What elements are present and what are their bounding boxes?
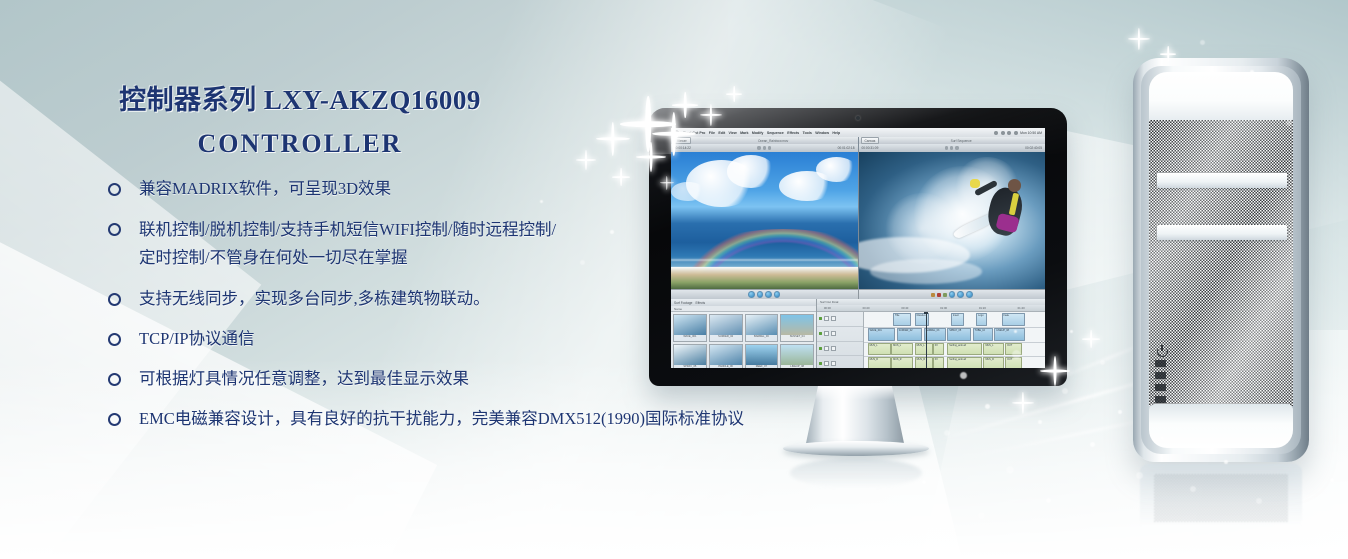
track-lock-icon[interactable]	[824, 346, 829, 351]
menu-item-view[interactable]: View	[729, 131, 737, 135]
feature-text: 支持无线同步，实现多台同步,多栋建筑物联动。	[139, 286, 490, 312]
timeline-clip[interactable]: Surfing_amb.aif	[947, 343, 982, 356]
clip-label: Fade	[1004, 314, 1009, 317]
timeline-clip[interactable]: MUS_R	[891, 357, 913, 368]
timeline-clip[interactable]: MUS_L	[868, 343, 892, 356]
ruler-mark: 00:00	[824, 306, 831, 310]
title-line-1: 控制器系列 LXY-AKZQ16009	[0, 78, 600, 117]
viewer-timecode[interactable]: 00:00:31:09	[862, 146, 879, 150]
track-header-a2[interactable]	[817, 356, 863, 368]
monitor-stand-base	[783, 441, 929, 456]
browser-panel[interactable]: Surf Footage Effects Name WAVE_001 SURFE…	[671, 299, 817, 368]
viewer-clip-title: Surf Sequence	[951, 139, 972, 143]
menu-bar: Final Cut Pro File Edit View Mark Modify…	[671, 128, 1045, 137]
menu-bar-status: Mon 10:50 AM	[994, 131, 1042, 135]
viewer-titlebar: Viewer Ocean_Rainbow.mov	[671, 137, 858, 144]
clip-name: BARREL_03	[746, 335, 778, 342]
timeline-clip[interactable]: MUS_L	[983, 343, 1003, 356]
firewire-icon[interactable]	[1155, 396, 1166, 403]
timeline-ruler[interactable]: 00:00 00:20 00:40 01:00 01:20 01:40	[817, 305, 1045, 312]
power-icon[interactable]	[1155, 346, 1171, 355]
list-item[interactable]: SUNSET_04	[780, 314, 814, 342]
feature-text: EMC电磁兼容设计，具有良好的抗干扰能力，完美兼容DMX512(1990)国际标…	[139, 406, 744, 432]
timeline-panel[interactable]: Surf Cut Final 00:00 00:20 00:40 01:00 0…	[817, 299, 1045, 368]
battery-icon[interactable]	[1014, 131, 1018, 135]
track-visibility-icon[interactable]	[819, 332, 822, 335]
viewer-duration: 00:01:02:18	[838, 146, 855, 150]
clip-name: LINEUP_08	[781, 365, 813, 369]
track-lock-icon[interactable]	[824, 331, 829, 336]
viewer-row: Viewer Ocean_Rainbow.mov 00:00:14:22 00:…	[671, 137, 1045, 289]
viewer-transport-right[interactable]	[858, 289, 1046, 299]
menu-item-sequence[interactable]: Sequence	[767, 131, 784, 135]
ruler-mark: 00:20	[863, 306, 870, 310]
clip-label: MUS_R	[893, 358, 901, 361]
product-banner: 控制器系列 LXY-AKZQ16009 CONTROLLER 兼容MADRIX软…	[0, 0, 1348, 559]
bullet-ring-icon	[108, 223, 121, 236]
clip-name: WAVE_001	[674, 335, 706, 342]
track-auto-icon[interactable]	[831, 346, 836, 351]
clip-name: SPRAY_05	[674, 365, 706, 369]
menu-item-help[interactable]: Help	[832, 131, 840, 135]
bullet-ring-icon	[108, 333, 121, 346]
viewer-timecode-bar: 00:00:14:22 00:01:02:18	[671, 144, 858, 152]
track-auto-icon[interactable]	[831, 331, 836, 336]
bullet-ring-icon	[108, 183, 121, 196]
timeline-tracks[interactable]: Title Dissolve Insert Logo Fade WAVE_001…	[864, 312, 1045, 368]
menu-item-file[interactable]: File	[709, 131, 715, 135]
clip-label: Dissolve	[917, 314, 926, 317]
bluetooth-icon[interactable]	[994, 131, 998, 135]
viewer-panel[interactable]: Viewer Ocean_Rainbow.mov 00:00:14:22 00:…	[671, 137, 858, 289]
play-button[interactable]	[748, 291, 755, 298]
viewer-image-ocean	[671, 152, 858, 289]
track-visibility-icon[interactable]	[819, 317, 822, 320]
bullet-ring-icon	[108, 293, 121, 306]
wifi-icon[interactable]	[1007, 131, 1011, 135]
viewer-tab[interactable]: Viewer	[673, 137, 691, 144]
feature-text: 可根据灯具情况任意调整，达到最佳显示效果	[139, 366, 469, 392]
track-header-v1[interactable]	[817, 327, 863, 342]
menu-item-mark[interactable]: Mark	[740, 131, 748, 135]
viewer-clip-title: Ocean_Rainbow.mov	[758, 139, 788, 143]
ruler-mark: 00:40	[901, 306, 908, 310]
clip-label: BARREL_03	[926, 329, 940, 332]
track-audible-icon[interactable]	[819, 347, 822, 350]
clip-label: MUS_L	[985, 344, 993, 347]
volume-icon[interactable]	[1001, 131, 1005, 135]
usb-icon[interactable]	[1155, 372, 1166, 379]
list-item[interactable]: PADDLE_06	[709, 344, 743, 368]
list-item[interactable]: REEF_07	[745, 344, 779, 368]
shuttle-button[interactable]	[966, 291, 973, 298]
bullet-ring-icon	[108, 373, 121, 386]
clip-label: MUS_R	[870, 358, 878, 361]
tower-top-panel	[1149, 72, 1293, 124]
mark-in-button[interactable]	[757, 291, 764, 298]
viewer-image-surfer	[859, 152, 1046, 289]
workstation-tower	[1133, 58, 1309, 462]
clip-label: Surfing_amb.aif	[949, 358, 966, 361]
clip-label: WAVE_001	[870, 329, 882, 332]
title-line-2: CONTROLLER	[0, 129, 600, 159]
viewer-duration: 00:02:40:05	[1025, 146, 1042, 150]
match-frame-button[interactable]	[943, 293, 947, 297]
coastline	[671, 267, 858, 289]
timeline-clip[interactable]: SURFER_02	[897, 328, 923, 341]
timeline-clip[interactable]: MUS_R	[868, 357, 892, 368]
browser-timeline-row: Surf Footage Effects Name WAVE_001 SURFE…	[671, 299, 1045, 368]
menu-item-window[interactable]: Window	[815, 131, 829, 135]
menu-item-effects[interactable]: Effects	[787, 131, 799, 135]
loop-button[interactable]	[957, 291, 964, 298]
list-item[interactable]: LINEUP_08	[780, 344, 814, 368]
clip-label: MUS_L	[893, 344, 901, 347]
clip-name: REEF_07	[746, 365, 778, 369]
track-auto-icon[interactable]	[831, 361, 836, 366]
menu-item-edit[interactable]: Edit	[718, 131, 725, 135]
feature-text: TCP/IP协议通信	[139, 326, 255, 352]
timeline-clip[interactable]: LINEUP_08	[994, 328, 1025, 341]
clip-label: SPRAY_05	[949, 329, 961, 332]
clip-label: MUS_R	[917, 358, 925, 361]
timeline-track-gutter	[817, 312, 864, 368]
clip-label: FX	[935, 358, 938, 361]
bullet-ring-icon	[108, 413, 121, 426]
timeline-clip[interactable]: Fade	[1002, 313, 1026, 326]
timeline-clip[interactable]: MUS_L	[891, 343, 913, 356]
timeline-clip[interactable]: MUS_R	[983, 357, 1003, 368]
track-header-a1[interactable]	[817, 342, 863, 357]
timeline-clip[interactable]: Dissolve	[915, 313, 930, 326]
track-v2[interactable]: Title Dissolve Insert Logo Fade	[864, 312, 1045, 328]
tower-bottom-panel	[1149, 404, 1293, 448]
transport-controls-row	[671, 289, 1045, 299]
page-title: 控制器系列 LXY-AKZQ16009 CONTROLLER	[0, 78, 600, 159]
ruler-mark: 01:20	[979, 306, 986, 310]
viewer-tab[interactable]: Canvas	[861, 137, 880, 144]
ruler-mark: 01:40	[1018, 306, 1025, 310]
mark-clip-button[interactable]	[931, 293, 935, 297]
clip-label: OUT	[1007, 344, 1012, 347]
timeline-clip[interactable]: WAVE_001	[868, 328, 895, 341]
list-item[interactable]: SURFER_02	[709, 314, 743, 342]
clip-label: LINEUP_08	[996, 329, 1009, 332]
webcam-icon	[856, 116, 860, 120]
clip-label: MUS_L	[870, 344, 878, 347]
clip-label: Title	[895, 314, 899, 317]
viewer-timecode-bar: 00:00:31:09 00:02:40:05	[859, 144, 1046, 152]
list-item: EMC电磁兼容设计，具有良好的抗干扰能力，完美兼容DMX512(1990)国际标…	[106, 406, 846, 432]
play-button[interactable]	[949, 291, 956, 298]
viewer-transport-left[interactable]	[671, 289, 858, 299]
viewer-titlebar: Canvas Surf Sequence	[859, 137, 1046, 144]
timeline-clip[interactable]: MUS_L	[915, 343, 933, 356]
clip-name: SUNSET_04	[781, 335, 813, 342]
monitor-stand-reflection	[790, 458, 922, 488]
timeline-clip[interactable]: Surfing_amb.aif	[947, 357, 982, 368]
track-auto-icon[interactable]	[831, 316, 836, 321]
timeline-clip[interactable]: OUT	[1005, 357, 1021, 368]
timeline-playhead[interactable]	[926, 312, 927, 368]
clip-label: TUBE_10	[975, 329, 985, 332]
browser-clip-grid: WAVE_001 SURFER_02 BARREL_03 SUNSET_04 S…	[671, 312, 816, 368]
feature-text: 兼容MADRIX软件，可呈现3D效果	[139, 176, 391, 202]
record-button[interactable]	[937, 293, 941, 297]
clip-label: MUS_L	[917, 344, 925, 347]
feature-text: 联机控制/脱机控制/支持手机短信WIFI控制/随时远程控制/ 定时控制/不管身在…	[139, 216, 556, 272]
clip-name: SURFER_02	[710, 335, 742, 342]
tab-effects[interactable]: Effects	[695, 301, 705, 305]
monitor-screen: Final Cut Pro File Edit View Mark Modify…	[671, 128, 1045, 368]
menu-item-app[interactable]: Final Cut Pro	[683, 131, 705, 135]
timeline-clip[interactable]: Title	[893, 313, 911, 326]
clip-label: Surfing_amb.aif	[949, 344, 966, 347]
track-audible-icon[interactable]	[819, 362, 822, 365]
timeline-clip[interactable]: BARREL_03	[924, 328, 946, 341]
viewer-controls[interactable]	[945, 146, 959, 149]
clip-label: OUT	[1007, 358, 1012, 361]
clip-label: Logo	[978, 314, 983, 317]
timeline-clip[interactable]: TUBE_10	[973, 328, 993, 341]
track-lock-icon[interactable]	[824, 361, 829, 366]
display-monitor: Final Cut Pro File Edit View Mark Modify…	[649, 108, 1067, 386]
ruler-mark: 01:00	[940, 306, 947, 310]
track-header-v2[interactable]	[817, 312, 863, 327]
clip-label: FX	[935, 344, 938, 347]
tab-surf-footage[interactable]: Surf Footage	[674, 301, 692, 305]
timeline-clip[interactable]: SPRAY_05	[947, 328, 971, 341]
timeline-clip[interactable]: Logo	[976, 313, 987, 326]
browser-tabs: Surf Footage Effects	[671, 299, 816, 306]
clip-label: MUS_R	[985, 358, 993, 361]
tower-reflection	[1140, 464, 1302, 538]
viewer-panel[interactable]: Canvas Surf Sequence 00:00:31:09 00:02:4…	[858, 137, 1046, 289]
timeline-body: Title Dissolve Insert Logo Fade WAVE_001…	[817, 312, 1045, 368]
audio-icon[interactable]	[1155, 360, 1166, 367]
timeline-clip[interactable]: Insert	[951, 313, 964, 326]
optical-drive-slot[interactable]	[1157, 225, 1287, 240]
monitor-stand-neck	[805, 386, 905, 448]
timeline-clip[interactable]: FX	[933, 357, 944, 368]
viewer-timecode[interactable]: 00:00:14:22	[674, 146, 691, 150]
clip-label: Insert	[953, 314, 959, 317]
list-item[interactable]: BARREL_03	[745, 314, 779, 342]
add-keyframe-button[interactable]	[774, 291, 781, 298]
usb-icon[interactable]	[1155, 384, 1166, 391]
clip-name: PADDLE_06	[710, 365, 742, 369]
clip-label: SURFER_02	[899, 329, 913, 332]
list-item[interactable]: SPRAY_05	[673, 344, 707, 368]
menu-item-tools[interactable]: Tools	[803, 131, 812, 135]
optical-drive-slot[interactable]	[1157, 173, 1287, 188]
track-lock-icon[interactable]	[824, 316, 829, 321]
list-item[interactable]: WAVE_001	[673, 314, 707, 342]
clock-label[interactable]: Mon 10:50 AM	[1020, 131, 1042, 135]
mark-out-button[interactable]	[765, 291, 772, 298]
menu-item-modify[interactable]: Modify	[752, 131, 764, 135]
track-v1[interactable]: WAVE_001 SURFER_02 BARREL_03 SPRAY_05 TU…	[864, 327, 1045, 343]
timeline-clip[interactable]: FX	[933, 343, 944, 356]
timeline-clip[interactable]: MUS_R	[915, 357, 933, 368]
viewer-controls[interactable]	[757, 146, 771, 149]
